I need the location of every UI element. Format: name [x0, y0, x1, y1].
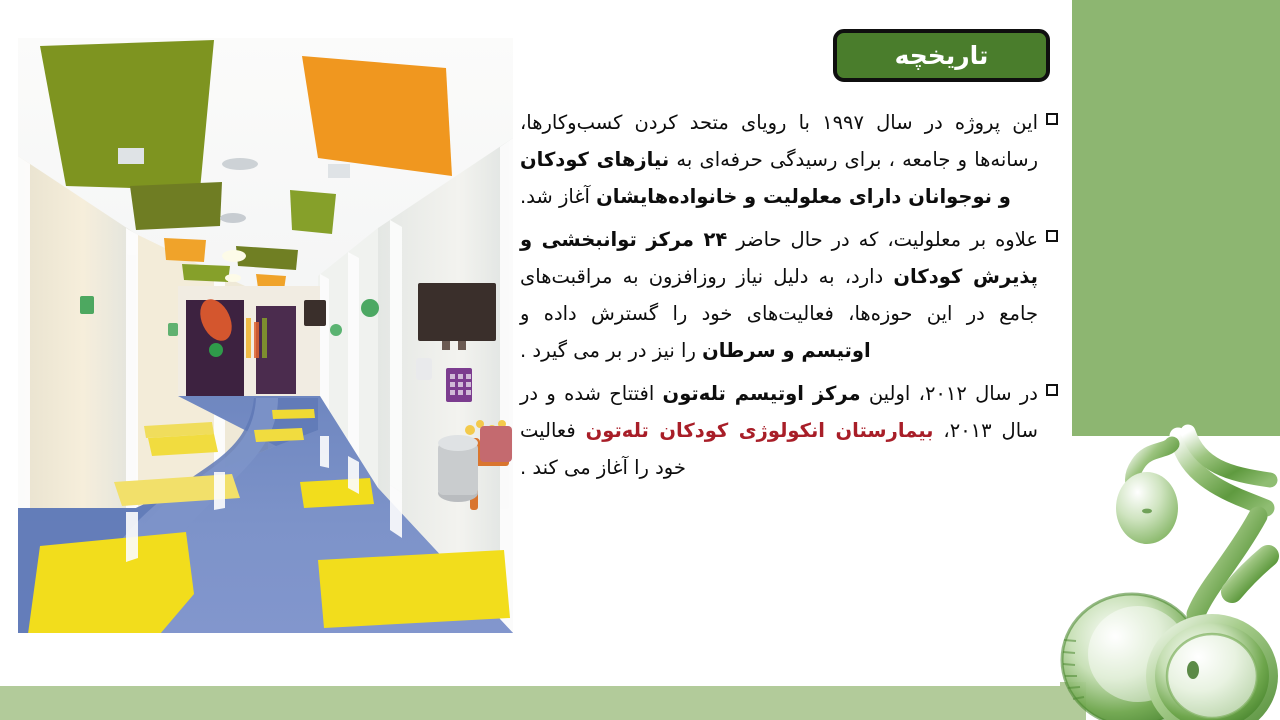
run-text-bold: اوتیسم و سرطان: [702, 339, 871, 362]
page-title: تاریخچه: [895, 43, 989, 68]
run-text: علاوه بر معلولیت، که در حال حاضر: [727, 228, 1038, 251]
right-decorative-panel: [1072, 0, 1280, 436]
slide-title-badge: تاریخچه: [833, 29, 1050, 82]
hospital-corridor-photo: [18, 38, 513, 633]
bullet-paragraph-3: در سال ۲۰۱۲، اولین مرکز اوتیسم تله‌تون ا…: [520, 375, 1058, 486]
run-text: آغاز شد.: [520, 185, 596, 208]
run-text-bold: مرکز اوتیسم تله‌تون: [663, 382, 861, 405]
stethoscope-illustration: [1060, 408, 1280, 720]
body-text-column: این پروژه در سال ۱۹۹۷ با رویای متحد کردن…: [520, 104, 1058, 486]
bullet-paragraph-2: علاوه بر معلولیت، که در حال حاضر ۲۴ مرکز…: [520, 221, 1058, 369]
bottom-accent-bar: [0, 686, 1086, 720]
run-text: را نیز در بر می گیرد .: [520, 339, 702, 362]
square-bullet-icon: [1046, 230, 1058, 242]
bullet-paragraph-1: این پروژه در سال ۱۹۹۷ با رویای متحد کردن…: [520, 104, 1058, 215]
run-text-highlight: بیمارستان انکولوژی کودکان تله‌تون: [586, 419, 934, 442]
presentation-slide: تاریخچه این پروژه در سال ۱۹۹۷ با رویای م…: [0, 0, 1280, 720]
square-bullet-icon: [1046, 113, 1058, 125]
square-bullet-icon: [1046, 384, 1058, 396]
run-text: در سال ۲۰۱۲، اولین: [861, 382, 1038, 405]
